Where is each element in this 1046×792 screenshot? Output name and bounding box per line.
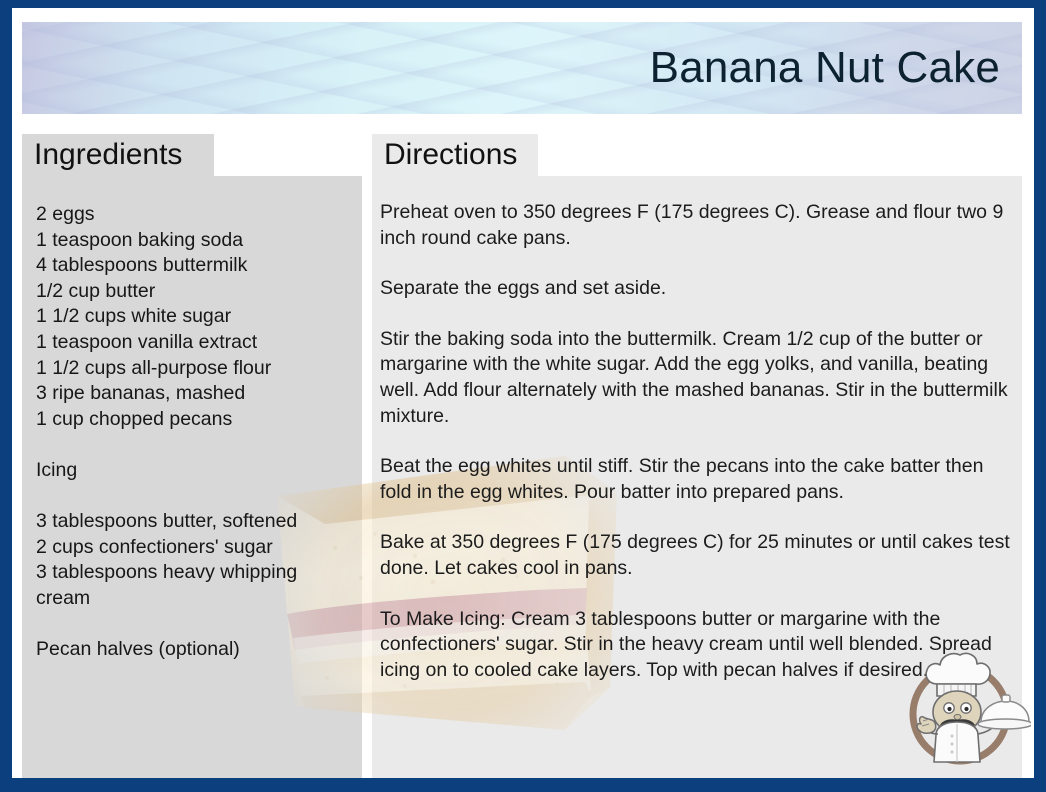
ingredient-item: 3 tablespoons butter, softened <box>36 509 348 535</box>
ingredient-item: Pecan halves (optional) <box>36 637 348 663</box>
ingredient-item: 1 teaspoon vanilla extract <box>36 330 348 356</box>
directions-steps: Preheat oven to 350 degrees F (175 degre… <box>380 200 1010 683</box>
recipe-page: Banana Nut Cake Ingredients 2 eggs1 teas… <box>12 8 1034 778</box>
ingredients-list: 2 eggs1 teaspoon baking soda4 tablespoon… <box>36 202 348 663</box>
ingredient-spacer <box>36 432 348 458</box>
direction-step: Separate the eggs and set aside. <box>380 276 1010 302</box>
direction-step: Beat the egg whites until stiff. Stir th… <box>380 454 1010 505</box>
ingredient-item: 3 tablespoons heavy whipping cream <box>36 560 348 611</box>
ingredient-item: Icing <box>36 458 348 484</box>
directions-tab: Directions <box>372 134 538 176</box>
ingredient-item: 4 tablespoons buttermilk <box>36 253 348 279</box>
ingredient-item: 1/2 cup butter <box>36 279 348 305</box>
ingredient-spacer <box>36 484 348 510</box>
ingredient-item: 2 cups confectioners' sugar <box>36 535 348 561</box>
direction-step: Bake at 350 degrees F (175 degrees C) fo… <box>380 530 1010 581</box>
ingredient-item: 1 1/2 cups white sugar <box>36 304 348 330</box>
ingredient-spacer <box>36 612 348 638</box>
ingredient-item: 1 teaspoon baking soda <box>36 228 348 254</box>
page-title: Banana Nut Cake <box>650 46 1000 90</box>
ingredients-heading: Ingredients <box>34 140 182 170</box>
header-banner: Banana Nut Cake <box>22 22 1022 114</box>
chef-mascot-logo <box>896 640 1031 772</box>
ingredients-tab: Ingredients <box>22 134 214 176</box>
ingredient-item: 1 1/2 cups all-purpose flour <box>36 356 348 382</box>
ingredient-item: 1 cup chopped pecans <box>36 407 348 433</box>
direction-step: Stir the baking soda into the buttermilk… <box>380 327 1010 429</box>
ingredient-item: 3 ripe bananas, mashed <box>36 381 348 407</box>
direction-step: Preheat oven to 350 degrees F (175 degre… <box>380 200 1010 251</box>
ingredients-panel: 2 eggs1 teaspoon baking soda4 tablespoon… <box>22 176 362 778</box>
directions-heading: Directions <box>384 140 517 170</box>
recipe-card: Banana Nut Cake Ingredients 2 eggs1 teas… <box>0 0 1046 792</box>
ingredient-item: 2 eggs <box>36 202 348 228</box>
